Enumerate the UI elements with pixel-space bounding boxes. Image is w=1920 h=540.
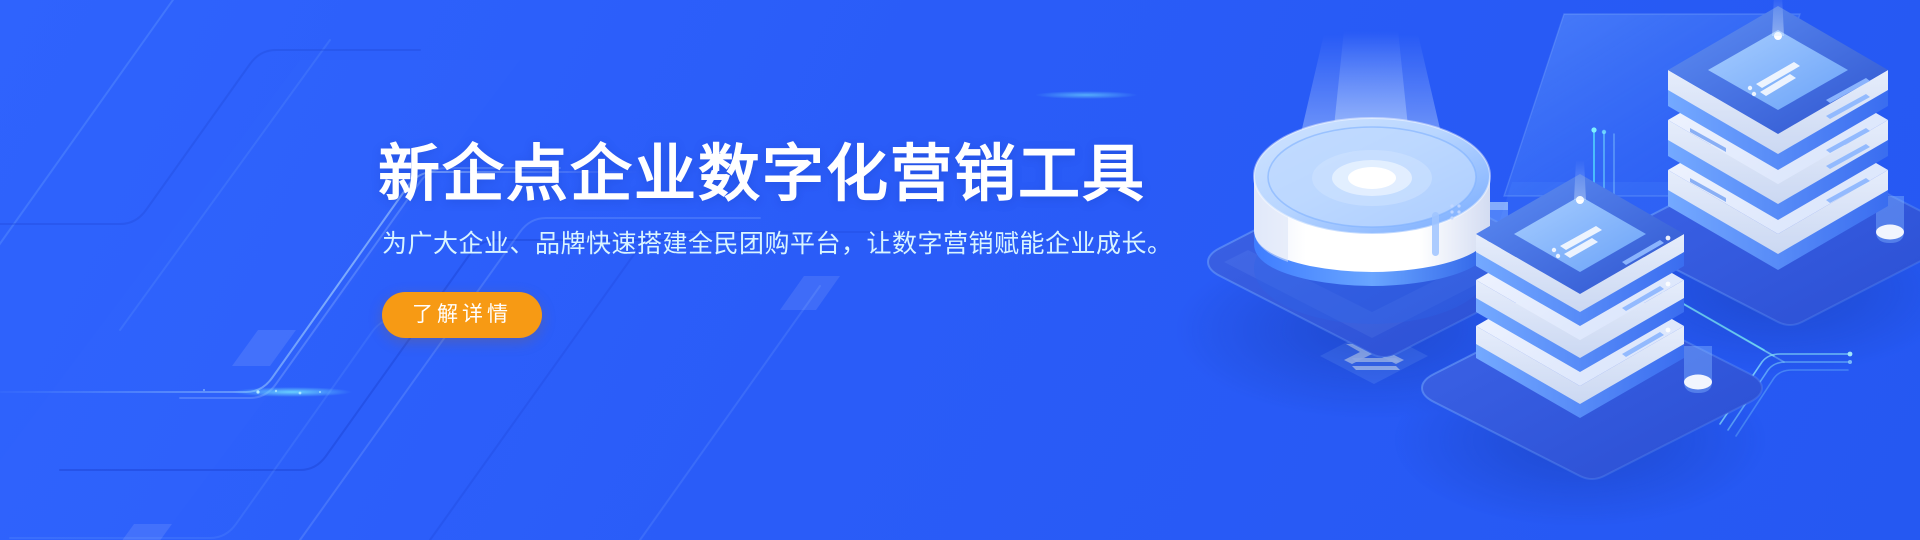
page-title: 新企点企业数字化营销工具 xyxy=(378,140,1198,209)
isometric-illustration xyxy=(1160,0,1920,540)
smart-hub-cylinder xyxy=(1254,118,1490,324)
banner-copy: 新企点企业数字化营销工具 为广大企业、品牌快速搭建全民团购平台，让数字营销赋能企… xyxy=(378,140,1198,338)
banner-subtitle: 为广大企业、品牌快速搭建全民团购平台，让数字营销赋能企业成长。 xyxy=(382,227,1198,262)
learn-more-button[interactable]: 了解详情 xyxy=(382,292,542,338)
promo-banner: 新企点企业数字化营销工具 为广大企业、品牌快速搭建全民团购平台，让数字营销赋能企… xyxy=(0,0,1920,540)
platform-peg-front xyxy=(1684,346,1712,393)
